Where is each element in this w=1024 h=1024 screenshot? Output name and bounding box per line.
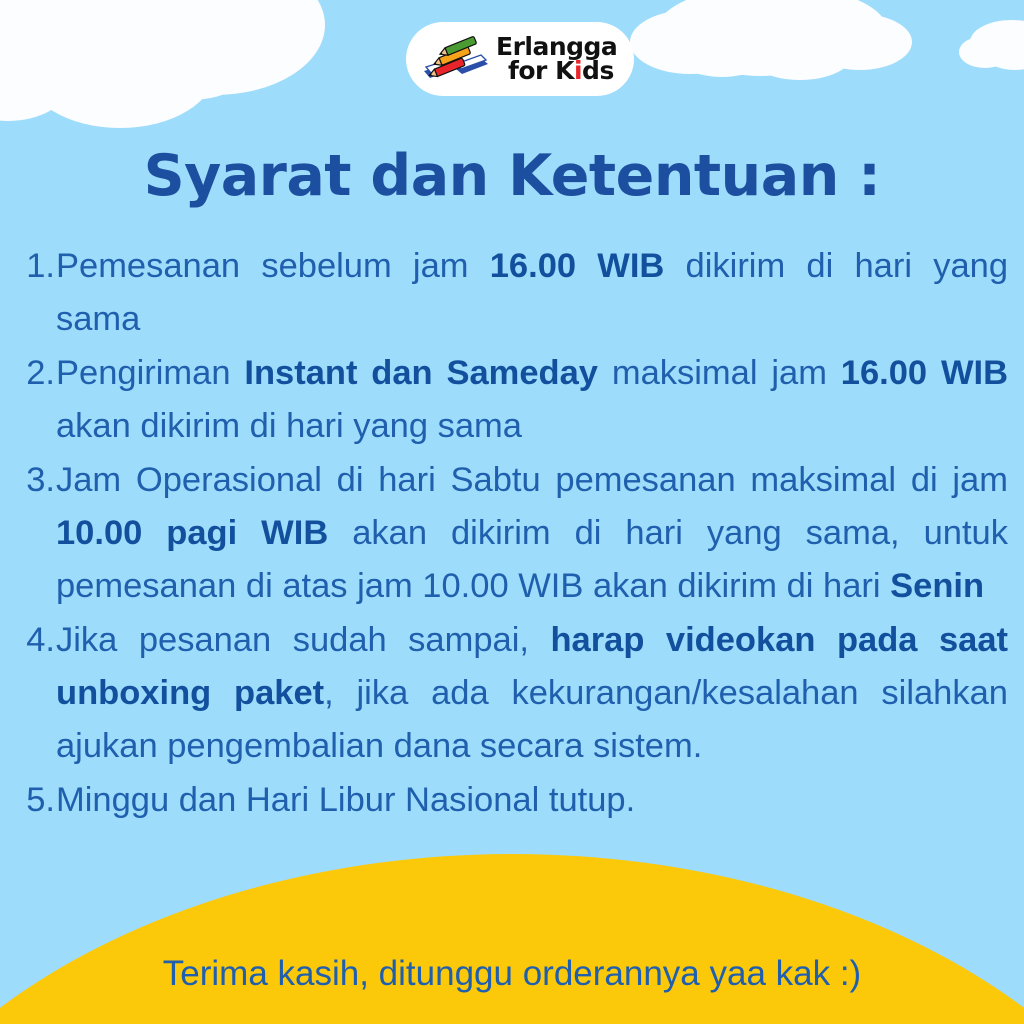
term-item: 4.Jika pesanan sudah sampai, harap video… [22, 614, 1008, 773]
term-text-span: maksimal jam [598, 354, 841, 392]
term-text-span: akan dikirim di hari yang sama [56, 407, 522, 445]
brand-wordmark: Erlangga for Kids [496, 35, 617, 84]
term-number: 3. [22, 454, 56, 507]
term-text-span: Pemesanan sebelum jam [56, 247, 490, 285]
term-text-span: Jam Operasional di hari Sabtu pemesanan … [56, 461, 1008, 499]
promo-poster: Erlangga for Kids Syarat dan Ketentuan :… [0, 0, 1024, 1024]
terms-and-conditions-list: 1.Pemesanan sebelum jam 16.00 WIB dikiri… [22, 240, 1008, 828]
brand-logo-badge: Erlangga for Kids [406, 22, 634, 96]
brand-wordmark-i-red: i [574, 56, 582, 85]
pencils-on-book-icon [420, 33, 494, 85]
page-title: Syarat dan Ketentuan : [0, 143, 1024, 209]
term-text-emphasis: 16.00 WIB [490, 247, 665, 285]
yellow-footer-arc [0, 854, 1024, 1024]
term-text: Jika pesanan sudah sampai, harap videoka… [56, 614, 1008, 773]
cloud-right-icon [630, 0, 912, 80]
brand-wordmark-k: K [555, 56, 574, 85]
term-text: Pengiriman Instant dan Sameday maksimal … [56, 347, 1008, 453]
brand-wordmark-for: for [508, 56, 555, 85]
term-item: 5.Minggu dan Hari Libur Nasional tutup. [22, 774, 1008, 827]
footer-thankyou-note: Terima kasih, ditunggu orderannya yaa ka… [0, 954, 1024, 994]
term-text: Minggu dan Hari Libur Nasional tutup. [56, 774, 1008, 827]
term-text-span: Pengiriman [56, 354, 244, 392]
term-text-emphasis: 16.00 WIB [841, 354, 1008, 392]
term-text: Pemesanan sebelum jam 16.00 WIB dikirim … [56, 240, 1008, 346]
term-number: 2. [22, 347, 56, 400]
brand-wordmark-line-2: for Kids [496, 59, 617, 84]
term-text-emphasis: 10.00 pagi WIB [56, 514, 328, 552]
term-text: Jam Operasional di hari Sabtu pemesanan … [56, 454, 1008, 613]
term-text-span: Jika pesanan sudah sampai, [56, 621, 550, 659]
term-number: 1. [22, 240, 56, 293]
term-item: 2.Pengiriman Instant dan Sameday maksima… [22, 347, 1008, 453]
term-text-emphasis: Instant dan Sameday [244, 354, 598, 392]
brand-wordmark-ds: ds [582, 56, 614, 85]
term-number: 5. [22, 774, 56, 827]
term-item: 1.Pemesanan sebelum jam 16.00 WIB dikiri… [22, 240, 1008, 346]
term-text-span: Minggu dan Hari Libur Nasional tutup. [56, 781, 635, 819]
cloud-left-icon [0, 0, 325, 128]
cloud-small-right-icon [959, 20, 1024, 70]
term-number: 4. [22, 614, 56, 667]
term-item: 3.Jam Operasional di hari Sabtu pemesana… [22, 454, 1008, 613]
term-text-emphasis: Senin [890, 567, 984, 605]
